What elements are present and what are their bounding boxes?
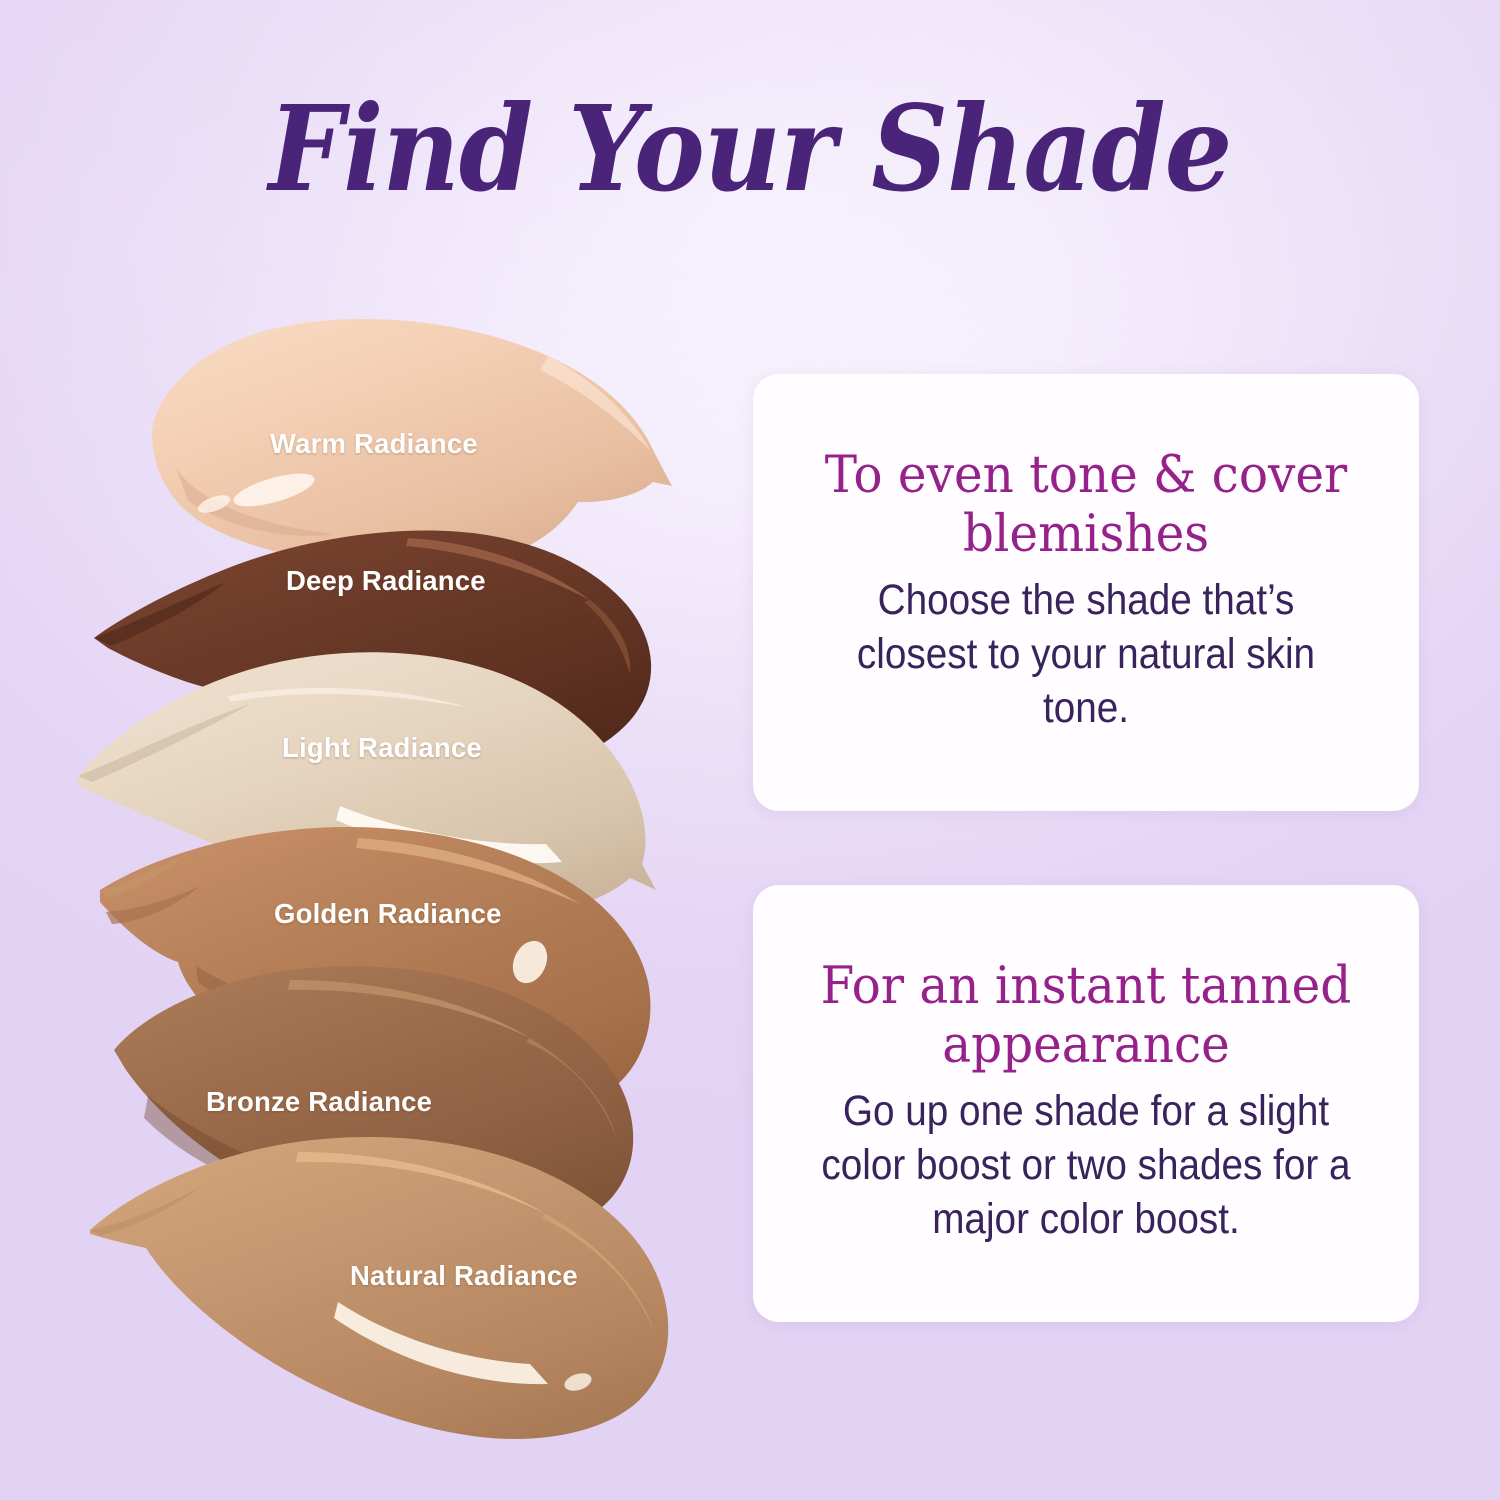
info-card-body: Choose the shade that’s closest to your … bbox=[817, 574, 1355, 735]
info-card-even-tone: To even tone & cover blemishes Choose th… bbox=[753, 374, 1419, 811]
swatch-label-natural-radiance: Natural Radiance bbox=[350, 1260, 578, 1292]
info-card-heading: For an instant tanned appearance bbox=[802, 957, 1370, 1075]
swatch-label-warm-radiance: Warm Radiance bbox=[270, 428, 478, 460]
swatch-label-deep-radiance: Deep Radiance bbox=[286, 565, 486, 597]
swatch-label-golden-radiance: Golden Radiance bbox=[274, 898, 502, 930]
info-card-body: Go up one shade for a slight color boost… bbox=[817, 1085, 1355, 1246]
info-card-heading: To even tone & cover blemishes bbox=[802, 446, 1370, 564]
page-title: Find Your Shade bbox=[75, 86, 1425, 211]
swatch-label-bronze-radiance: Bronze Radiance bbox=[206, 1086, 432, 1118]
swatch-label-light-radiance: Light Radiance bbox=[282, 732, 482, 764]
info-card-tanned-appearance: For an instant tanned appearance Go up o… bbox=[753, 885, 1419, 1322]
shade-swatch-stack: Warm Radiance Deep Radiance bbox=[78, 290, 718, 1420]
